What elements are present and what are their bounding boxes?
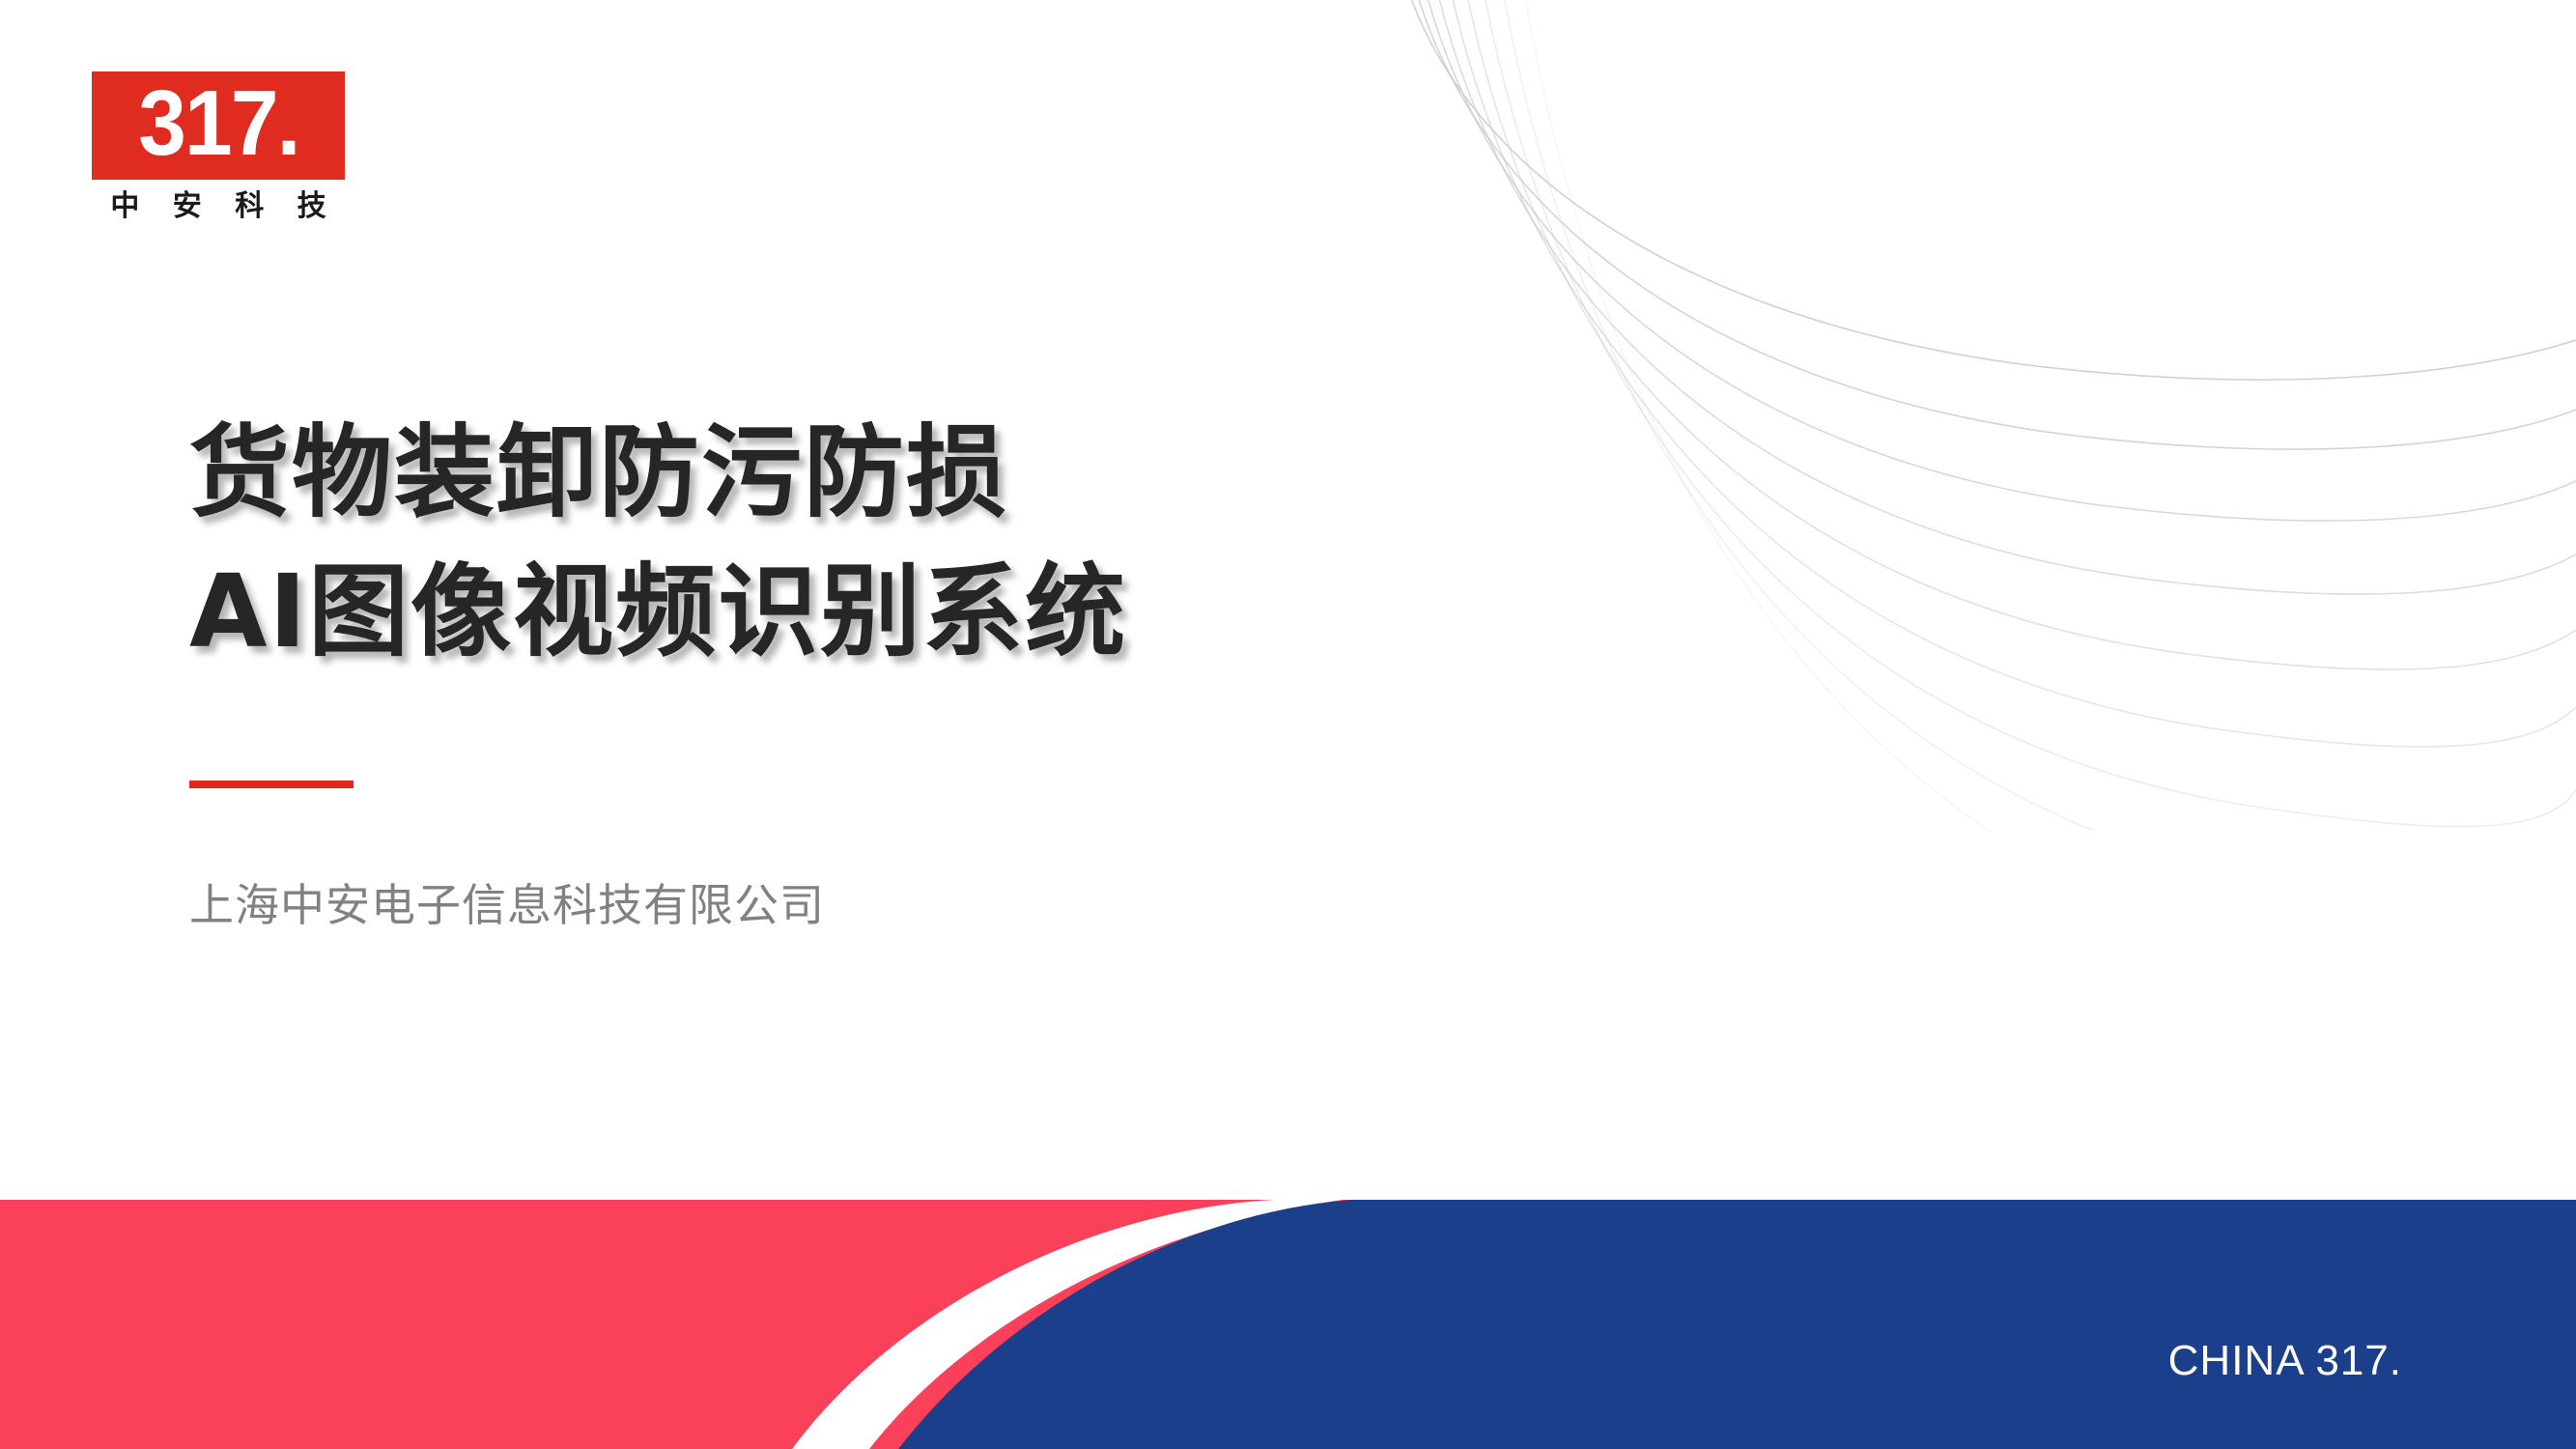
title-slide: 317. 中 安 科 技 货物装卸防污防损 AI图像视频识别系统 上海中安电子信… xyxy=(0,0,2576,1449)
brand-logo: 317. 中 安 科 技 xyxy=(92,71,345,221)
bottom-band: CHINA 317. xyxy=(0,1200,2576,1449)
company-name-subtitle: 上海中安电子信息科技有限公司 xyxy=(189,877,825,935)
page-title: 货物装卸防污防损 AI图像视频识别系统 xyxy=(189,404,1348,681)
page-title-line-2: AI图像视频识别系统 xyxy=(189,543,1348,682)
logo-mark-text: 317. xyxy=(138,77,298,174)
logo-mark-box: 317. xyxy=(92,71,345,180)
band-brand-label: CHINA 317. xyxy=(2168,1337,2402,1385)
swoosh-decoration xyxy=(1352,0,2576,831)
accent-divider xyxy=(189,781,354,788)
page-title-line-1: 货物装卸防污防损 xyxy=(189,404,1348,543)
logo-company-short: 中 安 科 技 xyxy=(92,192,345,221)
